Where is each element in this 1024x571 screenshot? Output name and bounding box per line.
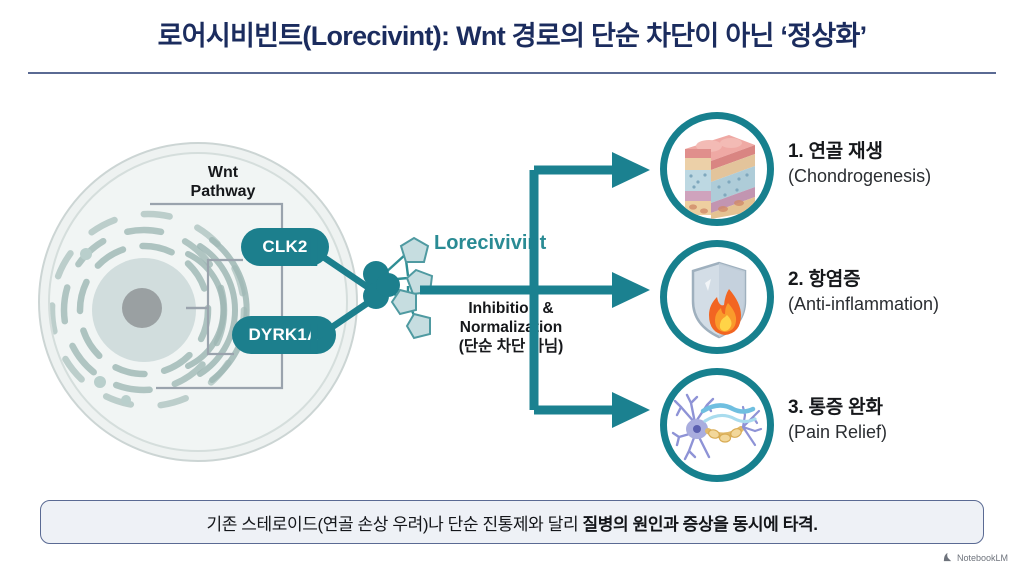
- branching-arrow: [420, 140, 672, 440]
- watermark-label: NotebookLM: [957, 553, 1008, 563]
- outcome-title-kr-1: 1. 연골 재생: [788, 136, 1010, 163]
- slide-canvas: 로어시비빈트(Lorecivint): Wnt 경로의 단순 차단이 아닌 ‘정…: [0, 0, 1024, 571]
- outcome-item-anti-inflammation[interactable]: 2. 항염증 (Anti-inflammation): [660, 240, 1010, 360]
- nucleolus: [122, 288, 162, 328]
- caption-emphasis: 질병의 원인과 증상을 동시에 타격.: [583, 515, 818, 534]
- relief-waves: [703, 405, 755, 421]
- arrowheads: [612, 152, 650, 428]
- outcome-icon-ring-3: [660, 368, 774, 482]
- wnt-label-line2: Pathway: [191, 183, 256, 200]
- summary-caption-text: 기존 스테로이드(연골 손상 우려)나 단순 진통제와 달리 질병의 원인과 증…: [206, 510, 817, 535]
- title-divider: [28, 72, 996, 74]
- page-title: 로어시비빈트(Lorecivint): Wnt 경로의 단순 차단이 아닌 ‘정…: [0, 14, 1024, 53]
- neuron-icon: [667, 375, 767, 475]
- shield-flame-icon: [667, 247, 767, 347]
- outcome-item-pain-relief[interactable]: 3. 통증 완화 (Pain Relief): [660, 368, 1010, 488]
- wnt-pathway-label: Wnt Pathway: [158, 164, 288, 202]
- notebooklm-watermark: NotebookLM: [942, 552, 1008, 563]
- notebooklm-logo-icon: [942, 552, 953, 563]
- outcome-title-kr-2: 2. 항염증: [788, 264, 1010, 291]
- caption-prefix: 기존 스테로이드(연골 손상 우려)나 단순 진통제와 달리: [206, 515, 582, 534]
- outcome-title-en-2: (Anti-inflammation): [788, 294, 1010, 315]
- outcome-icon-ring-2: [660, 240, 774, 354]
- myelin-sheath: [708, 427, 743, 442]
- outcome-title-kr-3: 3. 통증 완화: [788, 392, 1010, 419]
- outcome-label-1: 1. 연골 재생 (Chondrogenesis): [788, 136, 1010, 187]
- outcome-item-chondrogenesis[interactable]: 1. 연골 재생 (Chondrogenesis): [660, 112, 1010, 232]
- wnt-label-line1: Wnt: [208, 164, 238, 181]
- outcome-label-2: 2. 항염증 (Anti-inflammation): [788, 264, 1010, 315]
- summary-caption-box: 기존 스테로이드(연골 손상 우려)나 단순 진통제와 달리 질병의 원인과 증…: [40, 500, 984, 544]
- outcome-label-3: 3. 통증 완화 (Pain Relief): [788, 392, 1010, 443]
- outcome-icon-ring-1: [660, 112, 774, 226]
- outcome-title-en-3: (Pain Relief): [788, 422, 1010, 443]
- cartilage-tissue-icon: [667, 119, 767, 219]
- outcome-title-en-1: (Chondrogenesis): [788, 166, 1010, 187]
